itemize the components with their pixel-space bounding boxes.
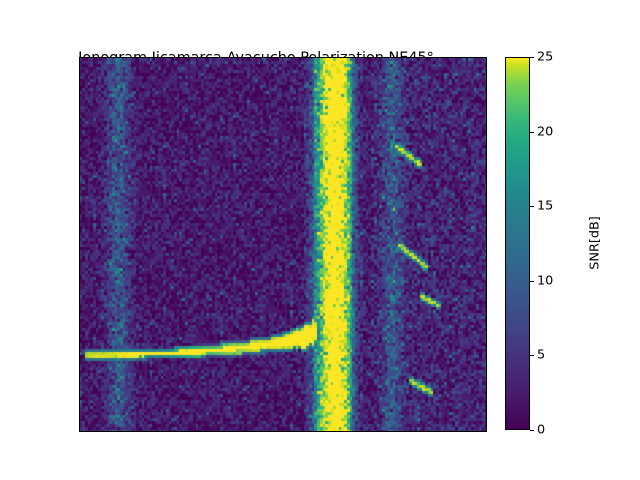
colorbar-tick-mark xyxy=(530,57,534,58)
y-tick-mark xyxy=(79,120,80,121)
ionogram-figure: Ionogram Jicamarca-Ayacucho Polarization… xyxy=(0,0,640,480)
colorbar-tick-label: 0 xyxy=(537,423,545,438)
colorbar-tick-label: 25 xyxy=(537,50,553,65)
ionogram-heatmap xyxy=(80,58,486,431)
y-tick-mark xyxy=(79,58,80,59)
colorbar-tick-mark xyxy=(530,206,534,207)
colorbar-tick-label: 15 xyxy=(537,199,553,214)
y-tick-mark xyxy=(79,369,80,370)
colorbar-tick-mark xyxy=(530,281,534,282)
colorbar-tick-label: 10 xyxy=(537,273,553,288)
colorbar-tick-label: 20 xyxy=(537,124,553,139)
colorbar-label: SNR[dB] xyxy=(588,216,603,269)
colorbar-tick-mark xyxy=(530,430,534,431)
colorbar-tick-mark xyxy=(530,355,534,356)
plot-area[interactable]: 050010001500200025003000 2468101214 Virt… xyxy=(79,57,487,432)
y-tick-mark xyxy=(79,245,80,246)
y-tick-mark xyxy=(79,182,80,183)
y-tick-mark xyxy=(79,307,80,308)
colorbar-gradient xyxy=(505,57,530,430)
colorbar-tick-label: 5 xyxy=(537,348,545,363)
colorbar: 0510152025 xyxy=(505,57,530,430)
y-tick-mark xyxy=(79,431,80,432)
colorbar-tick-mark xyxy=(530,132,534,133)
